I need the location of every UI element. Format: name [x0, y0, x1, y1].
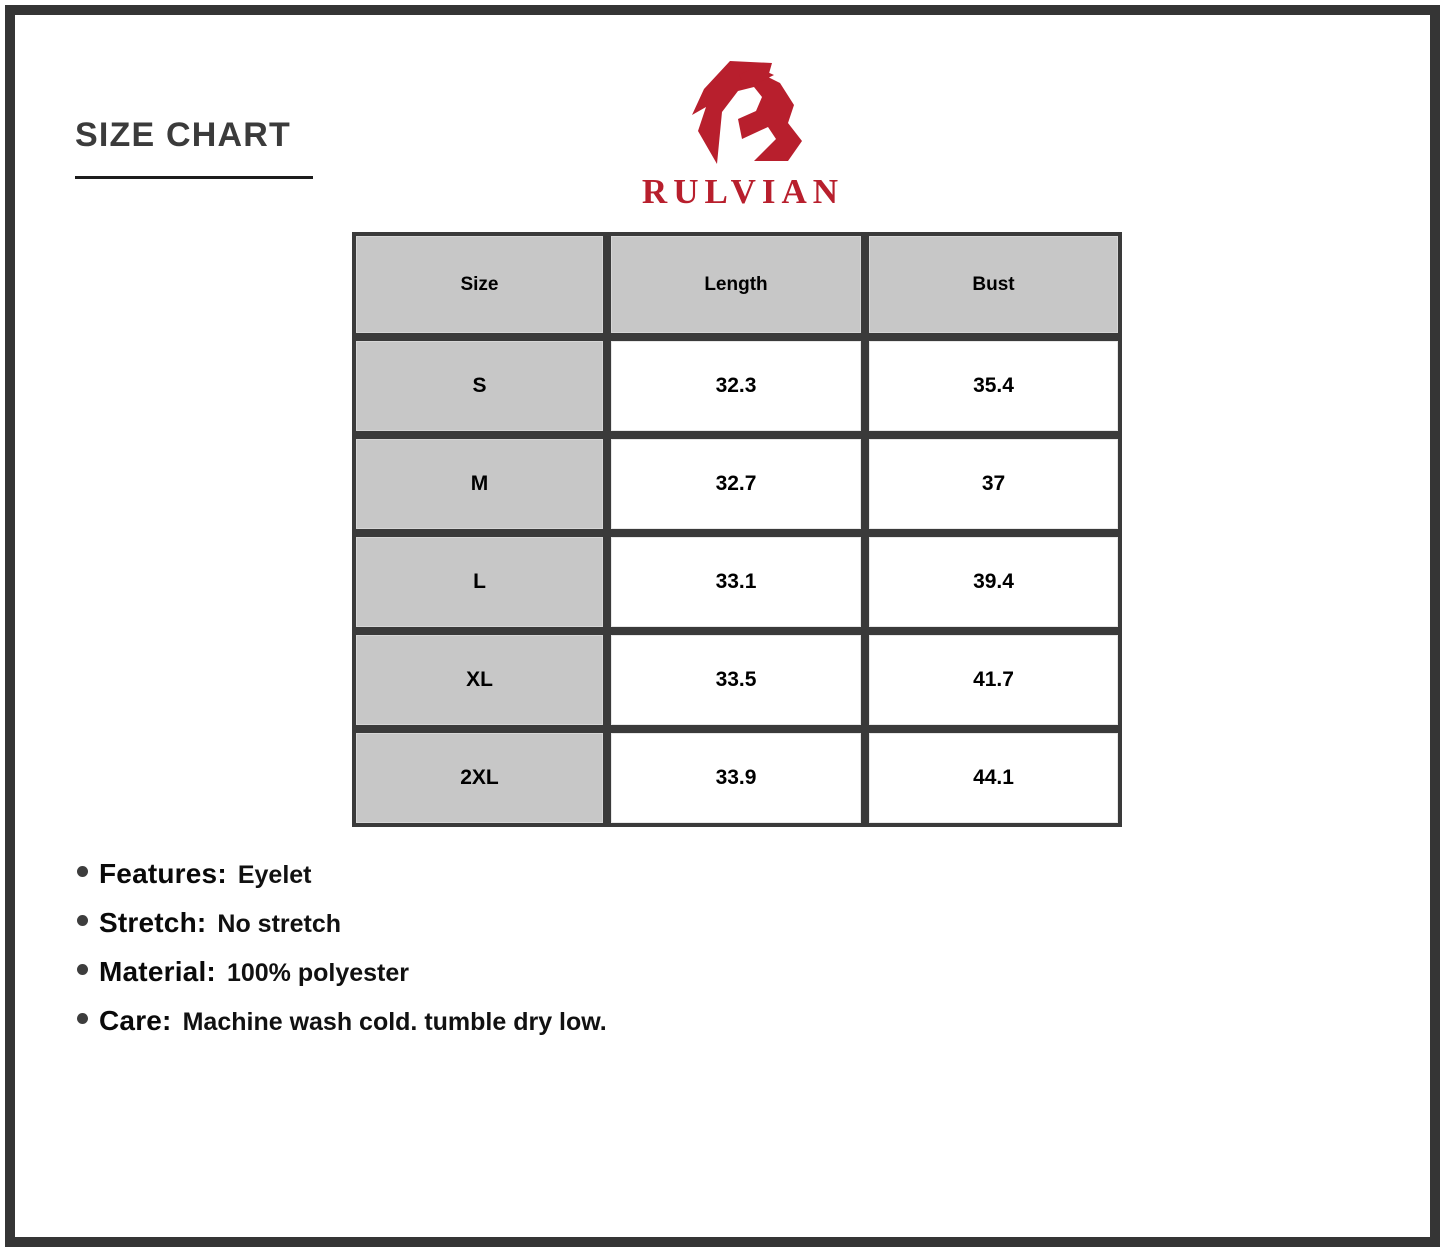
bullet-icon — [77, 866, 88, 877]
rulvian-r-monogram-icon — [676, 57, 804, 169]
title-block: SIZE CHART — [75, 118, 375, 179]
cell-size: 2XL — [352, 729, 607, 827]
brand-block: RULVIAN — [610, 57, 870, 209]
cell-bust: 41.7 — [865, 631, 1122, 729]
list-item: Features: Eyelet — [77, 858, 607, 907]
cell-length: 32.3 — [607, 337, 865, 435]
column-header-size: Size — [352, 232, 607, 337]
bullet-icon — [77, 1013, 88, 1024]
table-header-row: Size Length Bust — [352, 232, 1122, 337]
page-title: SIZE CHART — [75, 118, 375, 152]
table-row: S 32.3 35.4 — [352, 337, 1122, 435]
spec-value: Eyelet — [238, 861, 312, 890]
list-item: Care: Machine wash cold. tumble dry low. — [77, 1005, 607, 1054]
spec-value: 100% polyester — [227, 959, 409, 988]
bullet-icon — [77, 964, 88, 975]
spec-value: Machine wash cold. tumble dry low. — [183, 1008, 607, 1037]
spec-label: Care: — [99, 1005, 172, 1037]
cell-bust: 35.4 — [865, 337, 1122, 435]
cell-bust: 39.4 — [865, 533, 1122, 631]
spec-label: Features: — [99, 858, 227, 890]
size-chart-table: Size Length Bust S 32.3 35.4 M 32.7 37 L — [352, 232, 1122, 827]
cell-length: 33.1 — [607, 533, 865, 631]
cell-size: L — [352, 533, 607, 631]
list-item: Material: 100% polyester — [77, 956, 607, 1005]
spec-label: Stretch: — [99, 907, 206, 939]
spec-value: No stretch — [217, 910, 341, 939]
table-row: XL 33.5 41.7 — [352, 631, 1122, 729]
title-underline-divider — [75, 176, 313, 179]
size-chart-page: SIZE CHART RULVIAN Size Length Bust — [0, 0, 1445, 1252]
list-item: Stretch: No stretch — [77, 907, 607, 956]
cell-length: 33.9 — [607, 729, 865, 827]
table-row: 2XL 33.9 44.1 — [352, 729, 1122, 827]
bullet-icon — [77, 915, 88, 926]
cell-length: 33.5 — [607, 631, 865, 729]
column-header-bust: Bust — [865, 232, 1122, 337]
spec-label: Material: — [99, 956, 216, 988]
cell-size: M — [352, 435, 607, 533]
brand-wordmark: RULVIAN — [610, 174, 870, 209]
spec-list: Features: Eyelet Stretch: No stretch Mat… — [77, 858, 607, 1054]
cell-size: S — [352, 337, 607, 435]
cell-size: XL — [352, 631, 607, 729]
page-frame: SIZE CHART RULVIAN Size Length Bust — [5, 5, 1440, 1247]
column-header-length: Length — [607, 232, 865, 337]
cell-length: 32.7 — [607, 435, 865, 533]
table-row: M 32.7 37 — [352, 435, 1122, 533]
cell-bust: 37 — [865, 435, 1122, 533]
cell-bust: 44.1 — [865, 729, 1122, 827]
table-row: L 33.1 39.4 — [352, 533, 1122, 631]
